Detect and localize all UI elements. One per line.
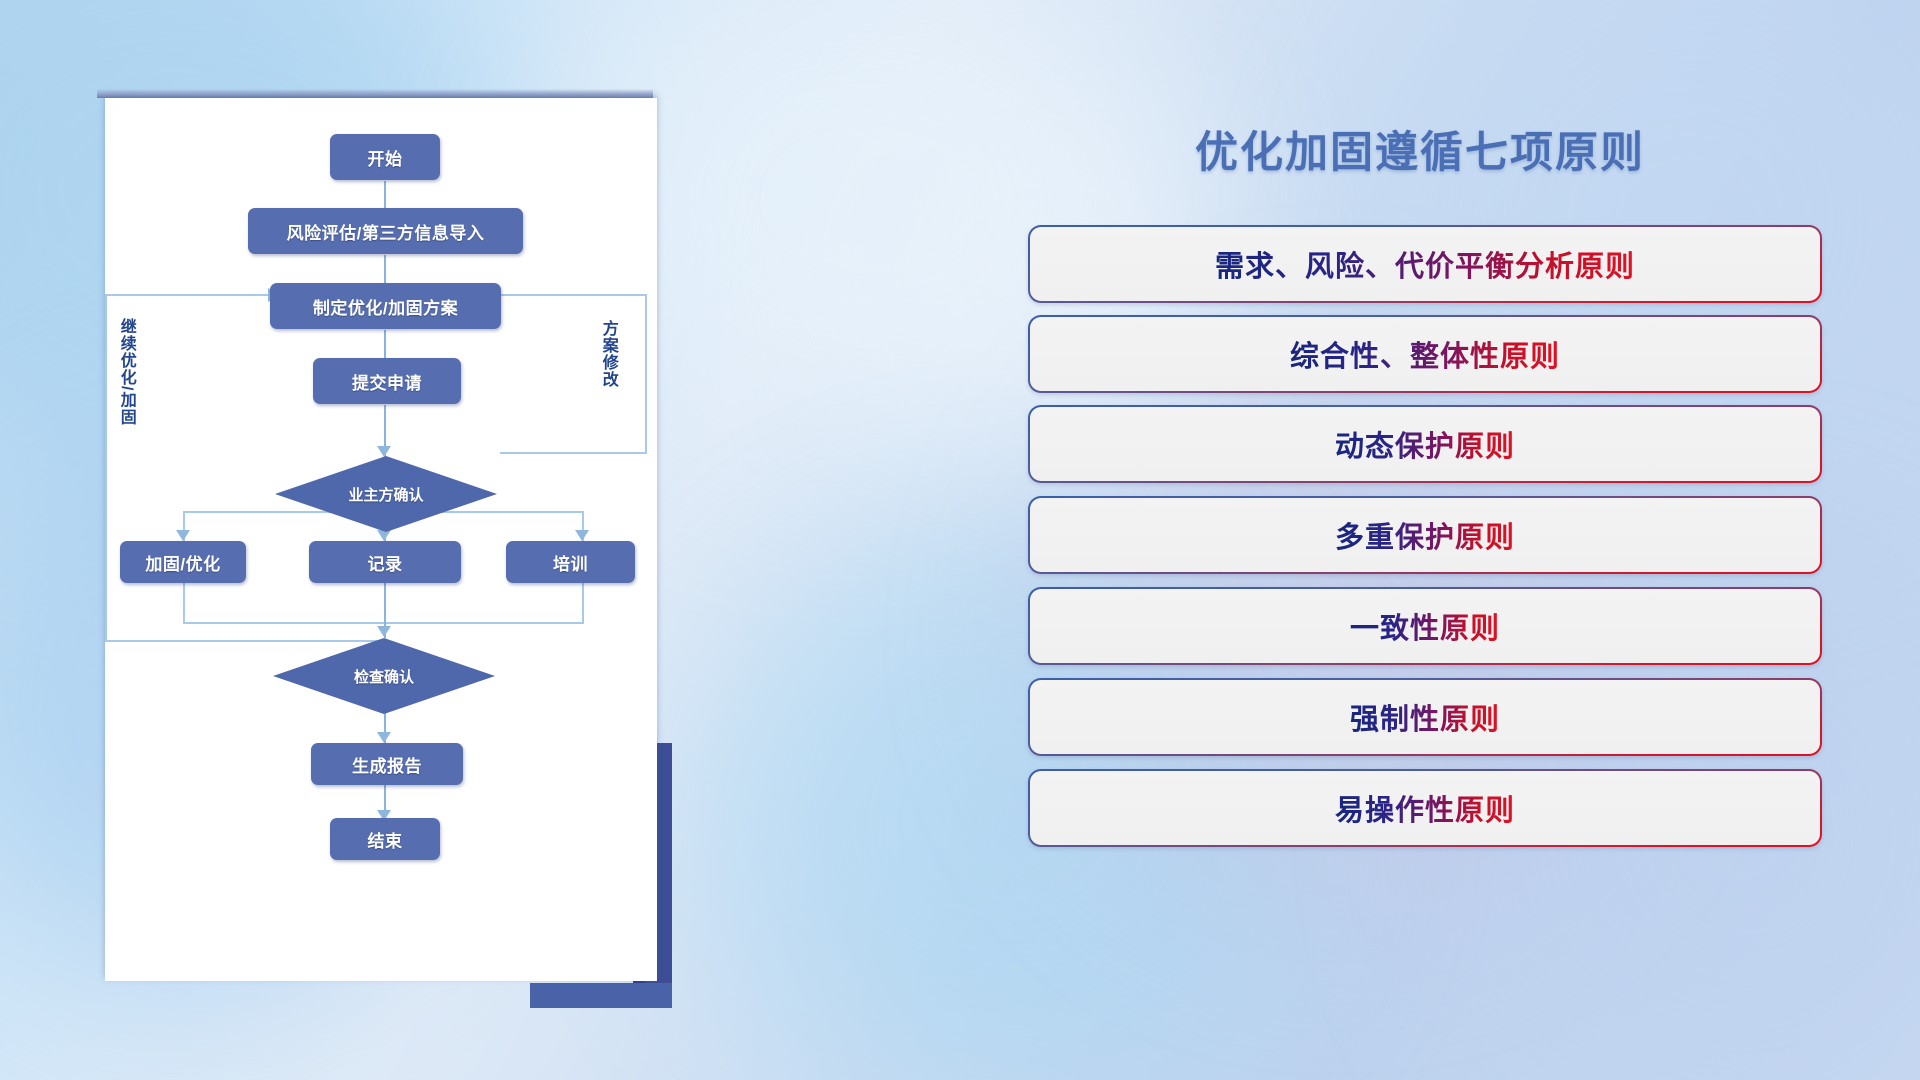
- principle-label: 综合性、整体性原则: [1290, 333, 1560, 375]
- flow-node-reinforce[interactable]: 加固/优化: [120, 541, 246, 583]
- flow-node-submit-application[interactable]: 提交申请: [313, 358, 461, 404]
- connector-line: [500, 452, 647, 454]
- principle-label: 强制性原则: [1350, 696, 1500, 738]
- principle-item-5[interactable]: 一致性原则: [1028, 587, 1822, 665]
- flow-node-plan[interactable]: 制定优化/加固方案: [270, 283, 501, 329]
- flow-node-label: 制定优化/加固方案: [313, 294, 458, 319]
- principle-label: 需求、风险、代价平衡分析原则: [1215, 243, 1635, 285]
- arrow-head-down: [575, 530, 589, 541]
- flow-node-label: 开始: [368, 145, 403, 170]
- flow-node-training[interactable]: 培训: [506, 541, 635, 583]
- principle-item-6[interactable]: 强制性原则: [1028, 678, 1822, 756]
- flow-node-label: 业主方确认: [348, 484, 423, 505]
- accent-bar-bottom: [530, 983, 672, 1008]
- arrow-head-down: [176, 530, 190, 541]
- edge-label-plan-revision: 方案修改: [599, 320, 616, 425]
- principle-label: 多重保护原则: [1335, 514, 1515, 556]
- principle-item-2[interactable]: 综合性、整体性原则: [1028, 315, 1822, 393]
- connector-line: [105, 294, 107, 642]
- principle-label: 动态保护原则: [1335, 423, 1515, 465]
- principle-item-1[interactable]: 需求、风险、代价平衡分析原则: [1028, 225, 1822, 303]
- connector-line: [645, 294, 647, 454]
- flow-node-label: 检查确认: [354, 666, 414, 687]
- flow-node-label: 风险评估/第三方信息导入: [287, 219, 485, 244]
- flow-node-end[interactable]: 结束: [330, 818, 440, 860]
- flow-node-label: 记录: [368, 550, 403, 575]
- flow-node-risk-assessment[interactable]: 风险评估/第三方信息导入: [248, 208, 523, 254]
- connector-line: [183, 622, 583, 624]
- flowchart-card: 开始 风险评估/第三方信息导入 制定优化/加固方案 提交申请 业主方确认 加固/…: [105, 98, 657, 981]
- flow-node-check-confirm[interactable]: 检查确认: [273, 638, 495, 714]
- flow-node-record[interactable]: 记录: [309, 541, 461, 583]
- arrow-head-down: [377, 732, 391, 743]
- principle-item-7[interactable]: 易操作性原则: [1028, 769, 1822, 847]
- principle-item-3[interactable]: 动态保护原则: [1028, 405, 1822, 483]
- connector-line: [582, 576, 584, 624]
- principles-panel: 优化加固遵循七项原则 需求、风险、代价平衡分析原则 综合性、整体性原则 动态保护…: [1020, 100, 1820, 1000]
- principle-label: 一致性原则: [1350, 605, 1500, 647]
- flow-node-label: 生成报告: [352, 752, 422, 777]
- card-top-shadow: [97, 89, 653, 98]
- principle-item-4[interactable]: 多重保护原则: [1028, 496, 1822, 574]
- connector-line: [183, 576, 185, 624]
- slide-root: 开始 风险评估/第三方信息导入 制定优化/加固方案 提交申请 业主方确认 加固/…: [0, 0, 1920, 1080]
- flow-node-label: 结束: [368, 827, 403, 852]
- panel-title: 优化加固遵循七项原则: [1020, 118, 1820, 180]
- arrow-head-down: [377, 626, 391, 637]
- principle-label: 易操作性原则: [1335, 787, 1515, 829]
- flow-node-generate-report[interactable]: 生成报告: [311, 743, 463, 785]
- flowchart-panel: 开始 风险评估/第三方信息导入 制定优化/加固方案 提交申请 业主方确认 加固/…: [105, 98, 680, 978]
- connector-line: [495, 294, 647, 296]
- flow-node-label: 提交申请: [352, 369, 422, 394]
- connector-line: [105, 294, 270, 296]
- edge-label-continue-optimize: 继续优化/加固: [117, 318, 134, 458]
- flow-node-owner-confirm[interactable]: 业主方确认: [275, 456, 497, 532]
- flow-node-label: 加固/优化: [145, 550, 220, 575]
- flow-node-start[interactable]: 开始: [330, 134, 440, 180]
- flow-node-label: 培训: [553, 550, 588, 575]
